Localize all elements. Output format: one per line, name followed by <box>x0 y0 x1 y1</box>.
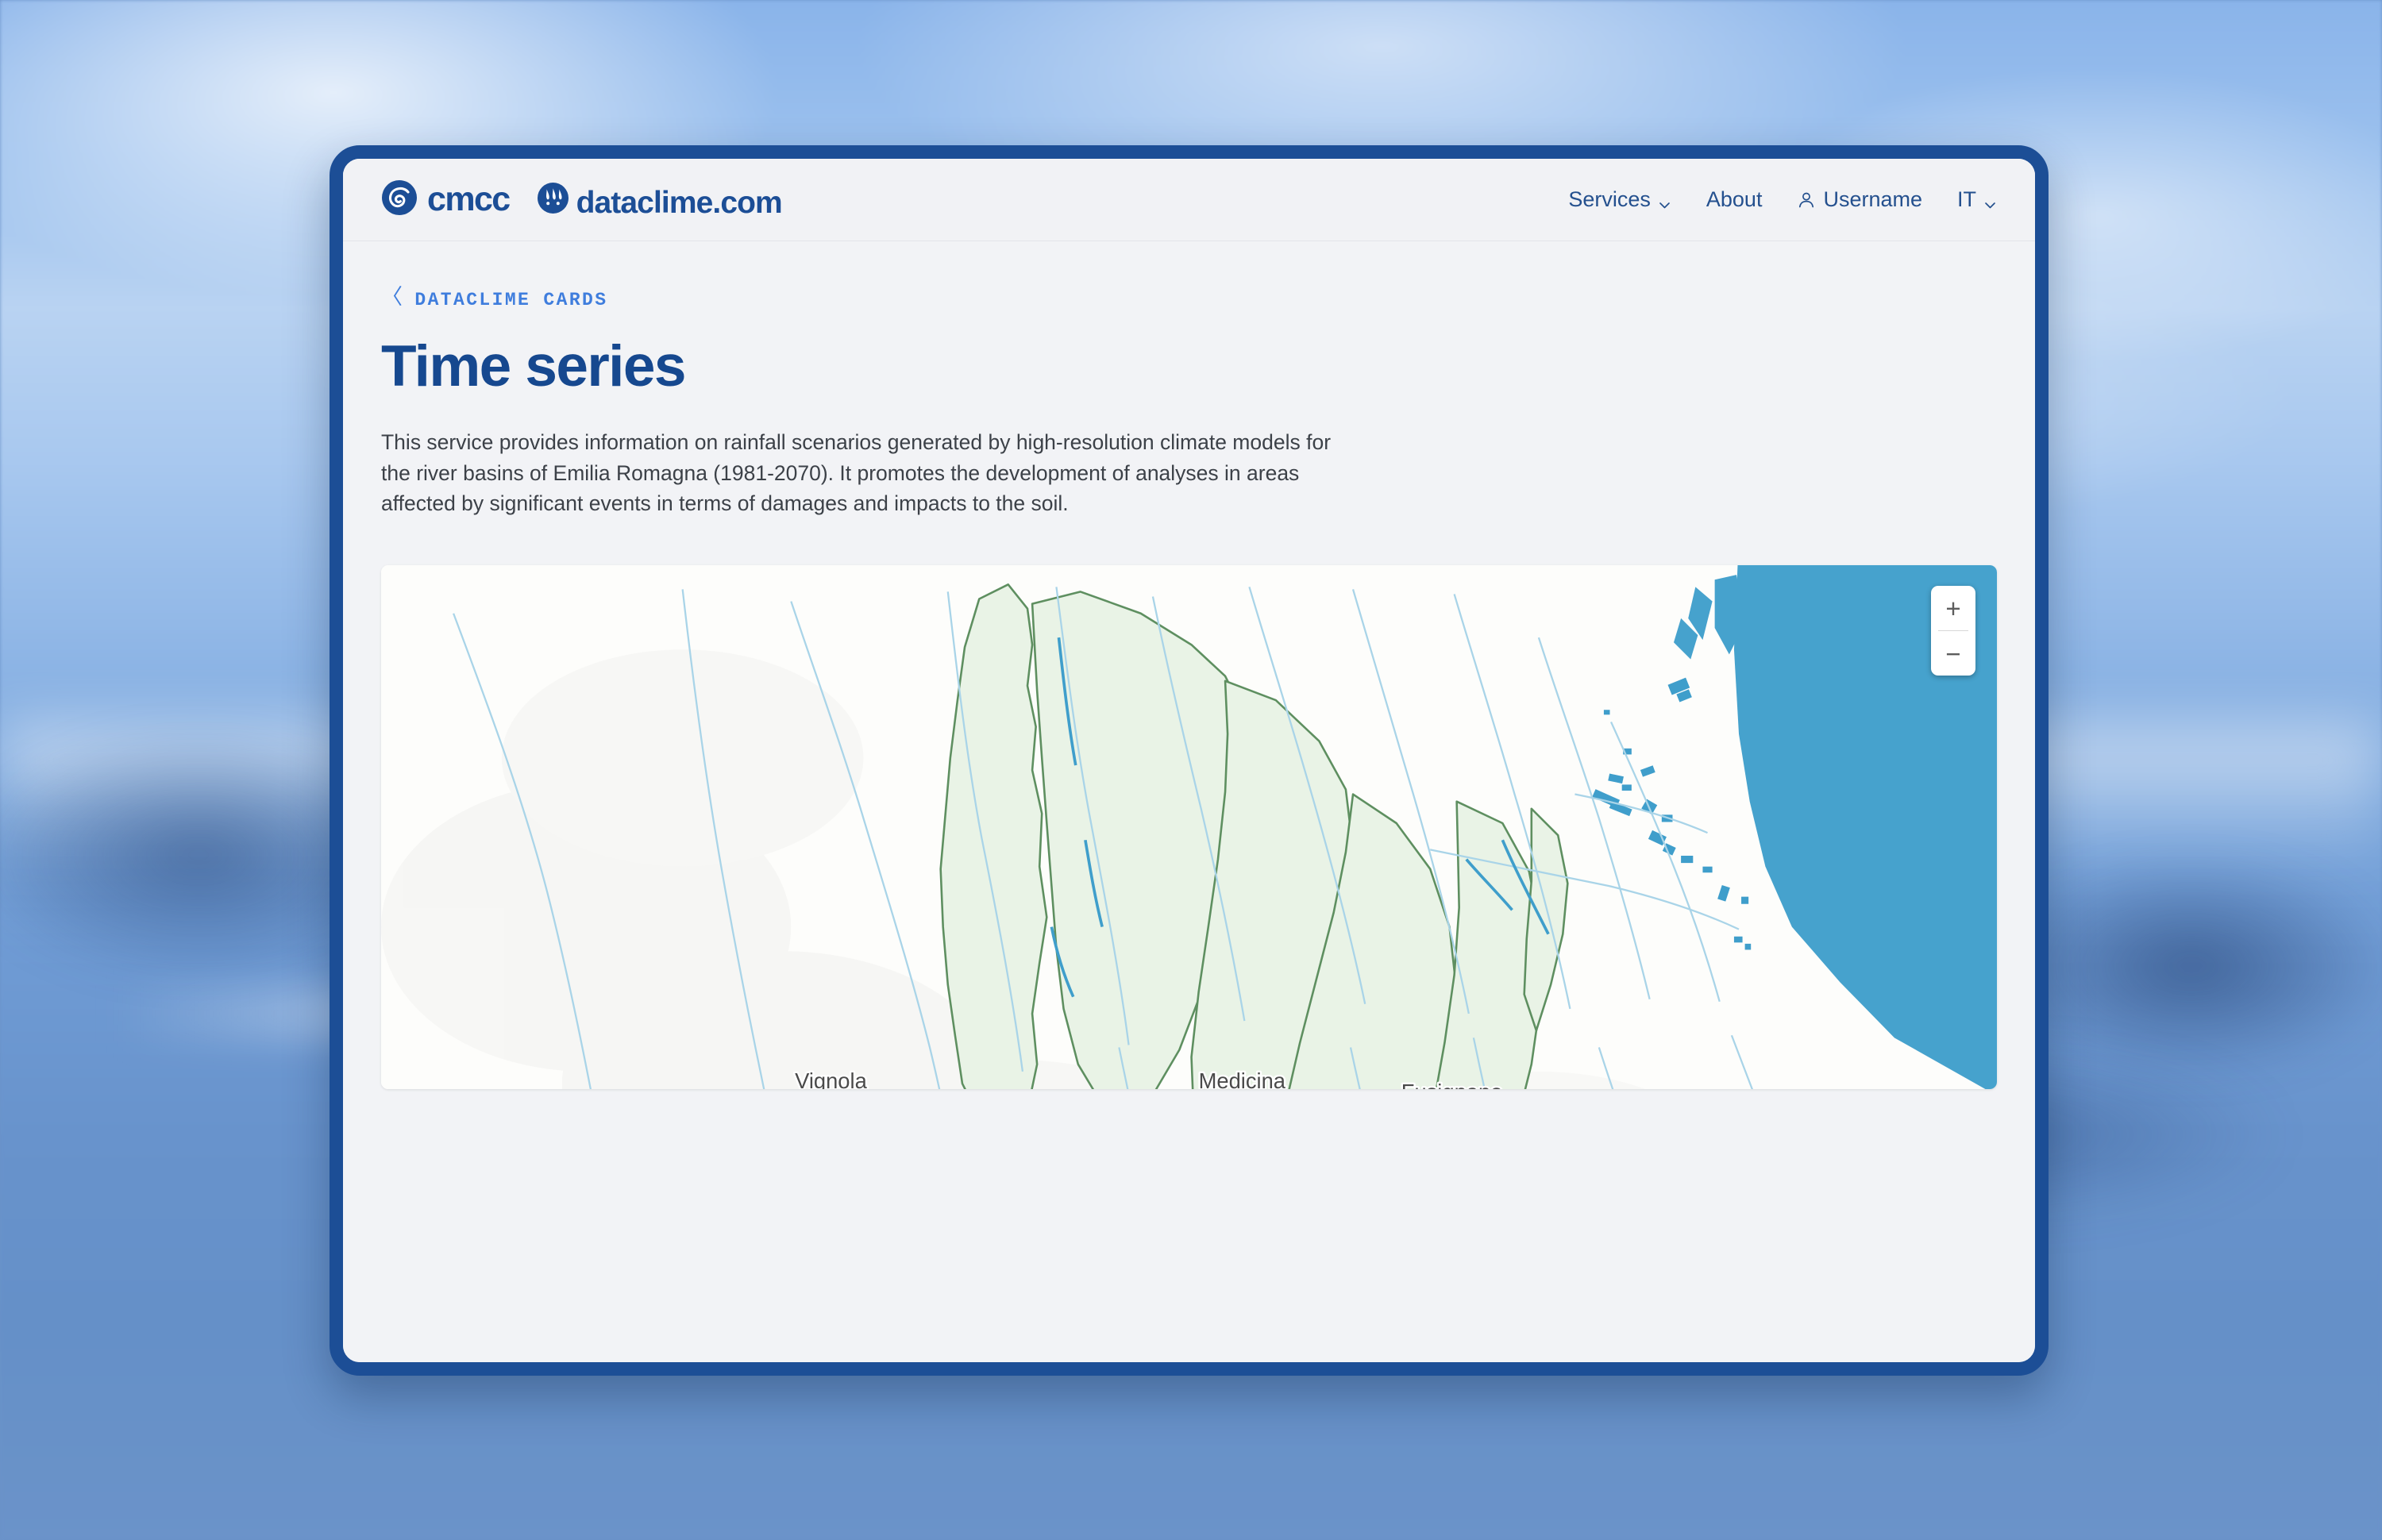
map-place-label: Vignola <box>795 1068 867 1089</box>
breadcrumb-label: DATACLIME CARDS <box>414 290 607 310</box>
zoom-out-button[interactable]: − <box>1931 631 1975 676</box>
cmcc-logo[interactable]: cmcc <box>381 179 510 220</box>
dataclime-wordmark: dataclime.com <box>576 187 782 218</box>
nav-item-about[interactable]: About <box>1706 187 1763 212</box>
dataclime-raindrops-icon <box>537 182 569 218</box>
cmcc-swirl-icon <box>381 179 418 220</box>
basin-map[interactable]: Idice (Reno) a Castenaso Montone a Castr… <box>381 565 1997 1089</box>
nav-about-label: About <box>1706 187 1763 212</box>
breadcrumb[interactable]: 〈 DATACLIME CARDS <box>381 289 1997 310</box>
nav-username-label: Username <box>1823 187 1922 212</box>
nav-item-language[interactable]: IT <box>1957 187 1997 212</box>
nav-item-services[interactable]: Services <box>1568 187 1671 212</box>
nav-services-label: Services <box>1568 187 1651 212</box>
zoom-in-button[interactable]: + <box>1931 586 1975 630</box>
site-header: cmcc dataclime.com Services <box>343 159 2035 241</box>
map-place-label: Medicina <box>1199 1068 1286 1089</box>
page-description: This service provides information on rai… <box>381 427 1366 519</box>
brand-lockup[interactable]: cmcc dataclime.com <box>381 179 782 220</box>
nav-language-label: IT <box>1957 187 1976 212</box>
browser-window: cmcc dataclime.com Services <box>330 145 2049 1376</box>
cmcc-wordmark: cmcc <box>427 180 510 219</box>
nav-item-username[interactable]: Username <box>1797 187 1922 212</box>
back-chevron-icon: 〈 <box>381 289 404 310</box>
page-content: 〈 DATACLIME CARDS Time series This servi… <box>343 241 2035 1089</box>
browser-viewport: cmcc dataclime.com Services <box>343 159 2035 1362</box>
page-title: Time series <box>381 337 1997 395</box>
main-navigation: Services About Username IT <box>1568 187 1997 212</box>
dataclime-logo[interactable]: dataclime.com <box>537 182 782 218</box>
user-icon <box>1797 191 1816 210</box>
map-place-label: Fusignano <box>1401 1080 1503 1089</box>
chevron-down-icon <box>1658 193 1671 206</box>
map-viewport[interactable]: Idice (Reno) a Castenaso Montone a Castr… <box>381 565 1997 1089</box>
map-zoom-controls[interactable]: + − <box>1931 586 1975 676</box>
chevron-down-icon <box>1983 193 1997 206</box>
